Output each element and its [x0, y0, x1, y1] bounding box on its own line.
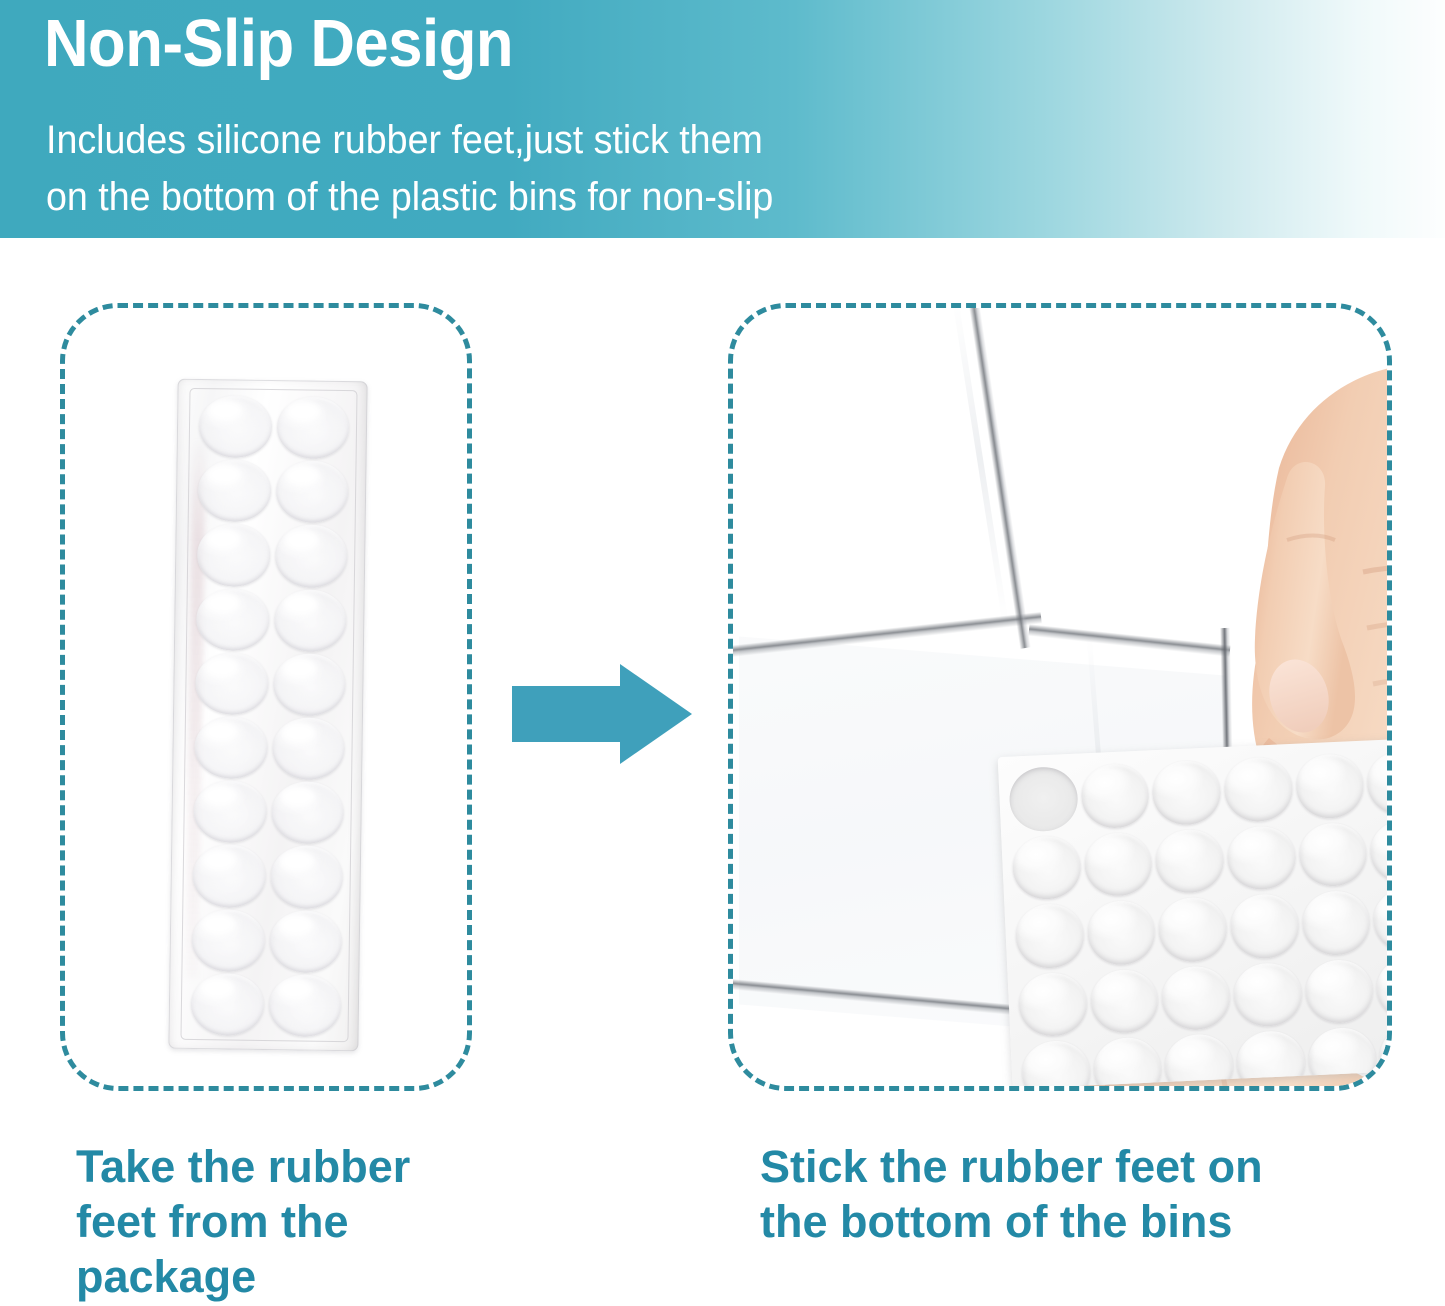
white-rubber-foot — [1232, 962, 1302, 1029]
clear-rubber-foot — [191, 973, 264, 1036]
white-rubber-foot — [1376, 955, 1392, 1022]
clear-rubber-foot — [270, 845, 343, 908]
clear-rubber-foot — [195, 652, 268, 715]
white-rubber-foot — [1301, 890, 1371, 957]
clear-rubber-foot — [197, 523, 270, 586]
clear-feet-strip-image — [168, 379, 367, 1052]
white-rubber-foot — [1086, 900, 1156, 967]
header-subtitle-line-1: Includes silicone rubber feet,just stick… — [46, 112, 773, 169]
clear-rubber-foot — [274, 524, 347, 587]
caption-left-line-3: package — [76, 1250, 506, 1305]
clear-rubber-foot — [272, 717, 345, 780]
clear-rubber-foot — [192, 844, 265, 907]
white-rubber-foot-empty-slot — [1008, 766, 1078, 833]
white-rubber-foot — [1298, 821, 1368, 888]
clear-rubber-foot — [271, 781, 344, 844]
white-rubber-foot — [1155, 828, 1225, 895]
white-rubber-foot — [1295, 753, 1365, 820]
white-rubber-foot — [1083, 831, 1153, 898]
clear-rubber-foot — [269, 910, 342, 973]
right-arrow-icon — [512, 664, 692, 764]
step-two-panel — [728, 303, 1392, 1091]
caption-right-line-1: Stick the rubber feet on — [760, 1140, 1400, 1195]
clear-rubber-foot — [268, 974, 341, 1037]
white-rubber-foot — [1223, 756, 1293, 823]
header-banner: Non-Slip Design Includes silicone rubber… — [0, 0, 1445, 238]
header-subtitle-line-2: on the bottom of the plastic bins for no… — [46, 169, 773, 226]
white-rubber-foot — [1092, 1037, 1162, 1089]
white-rubber-foot — [1304, 958, 1374, 1025]
clear-rubber-foot — [199, 395, 272, 458]
caption-right-line-2: the bottom of the bins — [760, 1195, 1400, 1250]
clear-rubber-foot — [198, 459, 271, 522]
white-rubber-foot — [1018, 971, 1088, 1038]
white-rubber-foot — [1372, 886, 1392, 953]
white-rubber-foot — [1366, 749, 1392, 816]
clear-rubber-foot — [273, 589, 346, 652]
white-rubber-foot — [1080, 762, 1150, 829]
clear-rubber-foot — [272, 653, 345, 716]
bin-and-hands-image — [733, 308, 1387, 1086]
caption-step-one: Take the rubber feet from the package — [76, 1140, 506, 1305]
white-rubber-foot — [1089, 968, 1159, 1035]
white-rubber-foot — [1229, 893, 1299, 960]
clear-rubber-foot — [193, 780, 266, 843]
clear-rubber-foot — [196, 588, 269, 651]
clear-feet-grid — [191, 395, 350, 1037]
clear-rubber-foot — [194, 716, 267, 779]
white-feet-grid — [1008, 749, 1392, 1088]
white-rubber-foot — [1021, 1040, 1091, 1089]
white-rubber-foot — [1161, 965, 1231, 1032]
white-rubber-foot — [1014, 903, 1084, 970]
caption-left-line-2: feet from the — [76, 1195, 506, 1250]
clear-rubber-foot — [191, 909, 264, 972]
white-rubber-feet-sheet — [998, 739, 1392, 1089]
page-title: Non-Slip Design — [44, 10, 513, 77]
white-rubber-foot — [1011, 834, 1081, 901]
caption-left-line-1: Take the rubber — [76, 1140, 506, 1195]
white-rubber-foot — [1151, 759, 1221, 826]
caption-step-two: Stick the rubber feet on the bottom of t… — [760, 1140, 1400, 1250]
white-rubber-foot — [1226, 824, 1296, 891]
clear-rubber-foot — [275, 460, 348, 523]
white-rubber-foot — [1369, 818, 1392, 885]
step-one-panel — [60, 303, 472, 1091]
clear-rubber-foot — [276, 396, 349, 459]
header-subtitle: Includes silicone rubber feet,just stick… — [46, 112, 773, 226]
white-rubber-foot — [1158, 896, 1228, 963]
